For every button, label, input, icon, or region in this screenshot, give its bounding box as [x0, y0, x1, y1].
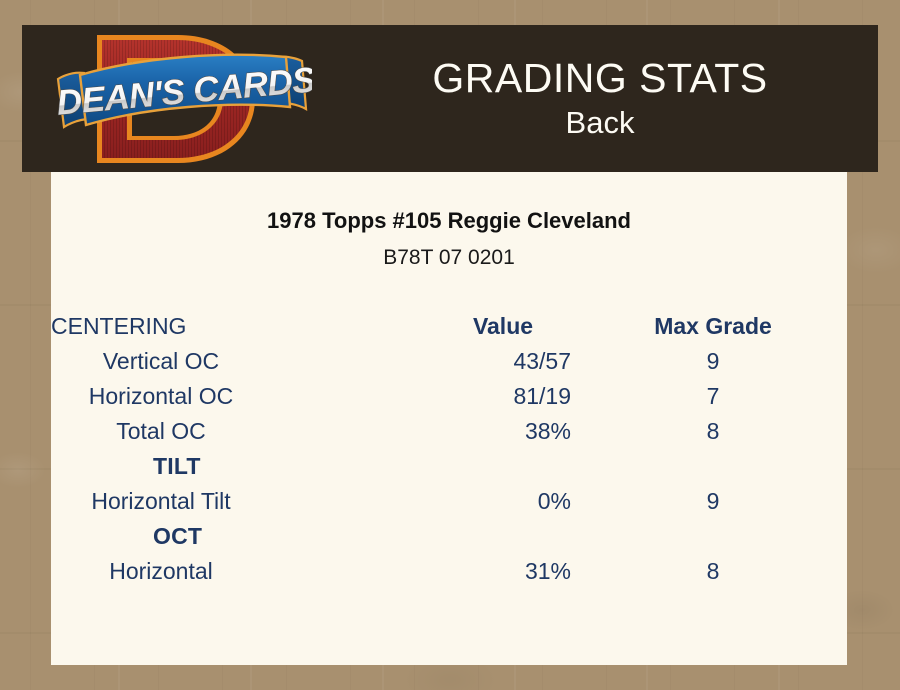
section-label: TILT	[51, 450, 471, 485]
logo-banner: DEAN'S CARDS	[55, 55, 312, 127]
column-header-grade: Max Grade	[643, 310, 783, 345]
table-row: Vertical OC 43/57 9	[51, 345, 847, 380]
section-grade	[643, 520, 783, 555]
row-grade: 7	[643, 380, 783, 415]
table-row: Horizontal Tilt 0% 9	[51, 485, 847, 520]
section-value	[431, 520, 571, 555]
grading-stats-table: CENTERING Value Max Grade Vertical OC 43…	[51, 310, 847, 590]
row-grade: 9	[643, 485, 783, 520]
row-value: 0%	[431, 485, 571, 520]
table-row: Total OC 38% 8	[51, 415, 847, 450]
card-code: B78T 07 0201	[51, 246, 847, 270]
header-title-block: GRADING STATS Back	[322, 25, 878, 172]
row-value: 43/57	[431, 345, 571, 380]
page-title: GRADING STATS	[432, 54, 767, 102]
page-subtitle: Back	[566, 102, 635, 144]
card-title: 1978 Topps #105 Reggie Cleveland	[51, 208, 847, 234]
row-label: Horizontal Tilt	[51, 485, 471, 520]
row-grade: 9	[643, 345, 783, 380]
table-header-row: CENTERING Value Max Grade	[51, 310, 847, 345]
section-grade	[643, 450, 783, 485]
section-value	[431, 450, 571, 485]
section-label: OCT	[51, 520, 471, 555]
row-value: 31%	[431, 555, 571, 590]
table-section-header: TILT	[51, 450, 847, 485]
table-section-header: OCT	[51, 520, 847, 555]
content-panel: 1978 Topps #105 Reggie Cleveland B78T 07…	[51, 172, 847, 665]
table-row: Horizontal 31% 8	[51, 555, 847, 590]
row-label: Total OC	[51, 415, 471, 450]
column-header-category: CENTERING	[51, 310, 471, 345]
header-bar: DEAN'S CARDS GRADING STATS Back	[22, 25, 878, 172]
row-value: 38%	[431, 415, 571, 450]
table-row: Horizontal OC 81/19 7	[51, 380, 847, 415]
column-header-value: Value	[423, 310, 583, 345]
row-grade: 8	[643, 415, 783, 450]
page-root: DEAN'S CARDS GRADING STATS Back 1978 Top…	[0, 0, 900, 690]
row-grade: 8	[643, 555, 783, 590]
row-label: Vertical OC	[51, 345, 471, 380]
row-value: 81/19	[431, 380, 571, 415]
deans-cards-logo[interactable]: DEAN'S CARDS	[50, 27, 312, 171]
row-label: Horizontal OC	[51, 380, 471, 415]
row-label: Horizontal	[51, 555, 471, 590]
